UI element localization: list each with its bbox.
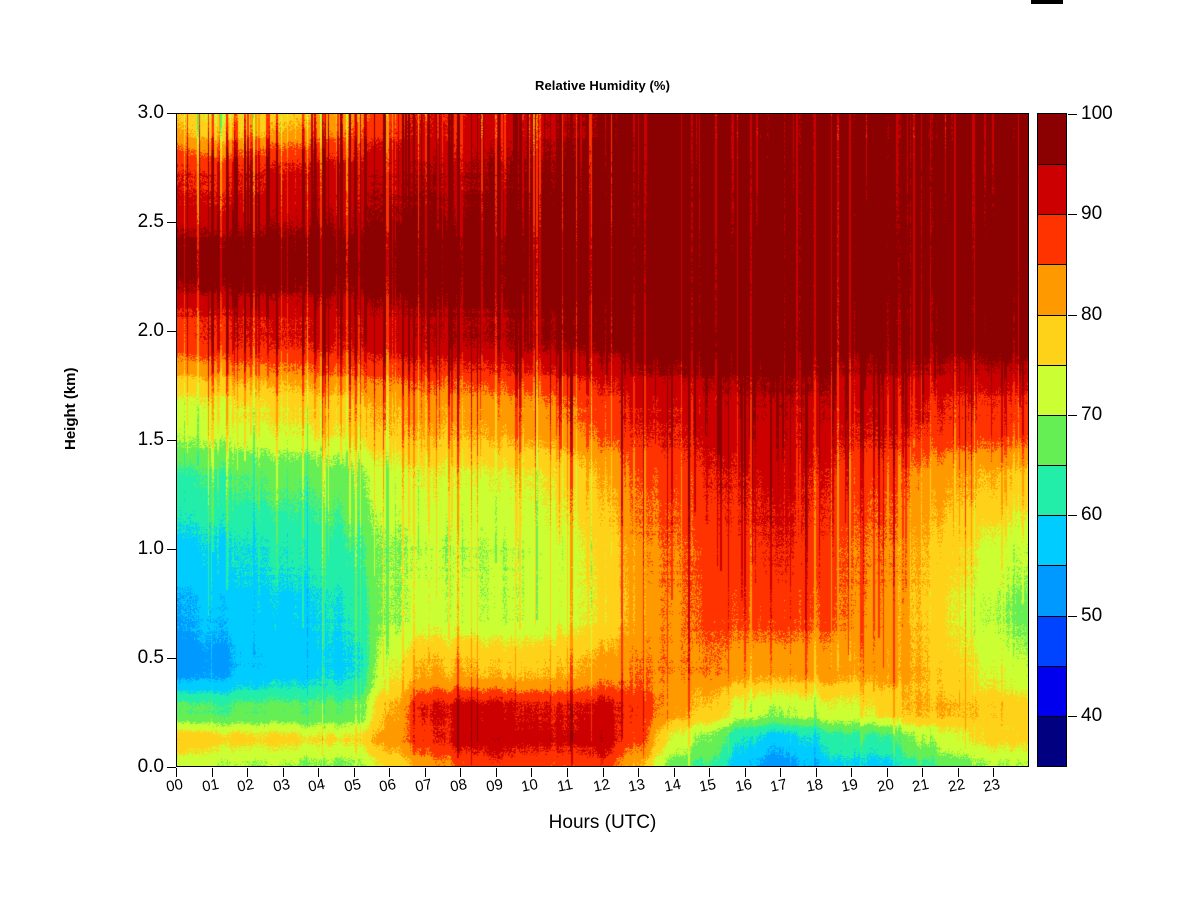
x-tick-label: 05 xyxy=(343,777,362,795)
colorbar-band-divider xyxy=(1038,214,1066,215)
y-axis-title: Height (km) xyxy=(62,368,79,451)
x-tick-label: 20 xyxy=(876,777,895,795)
x-tick-label: 13 xyxy=(627,777,646,795)
x-tick-label: 15 xyxy=(698,777,717,795)
colorbar-band xyxy=(1038,415,1066,465)
colorbar-band-divider xyxy=(1038,716,1066,717)
colorbar-band xyxy=(1038,565,1066,615)
colorbar-band xyxy=(1038,214,1066,264)
colorbar-band xyxy=(1038,264,1066,314)
colorbar-tick-label: 70 xyxy=(1081,405,1102,424)
colorbar-band-divider xyxy=(1038,164,1066,165)
colorbar-band xyxy=(1038,515,1066,565)
x-tick-label: 04 xyxy=(307,777,326,795)
colorbar-tick-mark xyxy=(1068,616,1077,617)
colorbar-band xyxy=(1038,666,1066,716)
colorbar-band xyxy=(1038,616,1066,666)
colorbar-band-divider xyxy=(1038,415,1066,416)
y-tick-mark xyxy=(167,222,176,223)
x-tick-label: 02 xyxy=(236,777,255,795)
x-tick-label: 11 xyxy=(556,777,574,795)
x-tick-label: 23 xyxy=(982,777,1001,795)
x-axis-title: Hours (UTC) xyxy=(176,812,1029,834)
x-tick-label: 18 xyxy=(805,777,824,795)
heatmap-plot-area[interactable] xyxy=(176,113,1029,767)
y-tick-mark xyxy=(167,767,176,768)
y-tick-label: 0.0 xyxy=(138,757,164,776)
y-tick-label: 3.0 xyxy=(138,103,164,122)
x-tick-label: 07 xyxy=(414,777,433,795)
y-axis: Height (km) 0.00.51.01.52.02.53.0 xyxy=(0,0,176,900)
colorbar-tick-mark xyxy=(1068,114,1077,115)
colorbar-tick-label: 80 xyxy=(1081,305,1102,324)
x-tick-label: 08 xyxy=(449,777,468,795)
colorbar-tick-label: 50 xyxy=(1081,606,1102,625)
x-tick-label: 12 xyxy=(592,777,611,795)
colorbar-band-divider xyxy=(1038,515,1066,516)
y-tick-label: 0.5 xyxy=(138,648,164,667)
y-tick-mark xyxy=(167,658,176,659)
x-tick-label: 14 xyxy=(663,777,682,795)
colorbar-band-divider xyxy=(1038,616,1066,617)
colorbar-tick-label: 100 xyxy=(1081,104,1113,123)
figure-canvas: Relative Humidity (%) Height (km) 0.00.5… xyxy=(0,0,1200,900)
x-tick-label: 10 xyxy=(520,777,539,795)
colorbar-tick-mark xyxy=(1068,415,1077,416)
y-tick-mark xyxy=(167,440,176,441)
colorbar-tick-mark xyxy=(1068,515,1077,516)
x-tick-label: 17 xyxy=(769,777,788,795)
colorbar-band-divider xyxy=(1038,264,1066,265)
x-tick-label: 03 xyxy=(272,777,291,795)
y-tick-mark xyxy=(167,549,176,550)
colorbar-band xyxy=(1038,315,1066,365)
colorbar-band-divider xyxy=(1038,365,1066,366)
colorbar-band xyxy=(1038,114,1066,164)
x-tick-label: 22 xyxy=(947,777,966,795)
colorbar-band xyxy=(1038,465,1066,515)
x-tick-label: 19 xyxy=(840,777,859,795)
x-tick-label: 00 xyxy=(165,777,184,795)
colorbar-tick-mark xyxy=(1068,315,1077,316)
page-title: Relative Humidity (%) xyxy=(176,78,1029,93)
x-tick-label: 06 xyxy=(378,777,397,795)
x-tick-label: 21 xyxy=(911,777,930,795)
colorbar-band-divider xyxy=(1038,666,1066,667)
colorbar-tick-mark xyxy=(1068,716,1077,717)
y-tick-mark xyxy=(167,113,176,114)
x-tick-label: 09 xyxy=(485,777,504,795)
colorbar-tick-label: 40 xyxy=(1081,706,1102,725)
colorbar-tick-label: 90 xyxy=(1081,204,1102,223)
y-tick-mark xyxy=(167,331,176,332)
colorbar[interactable] xyxy=(1037,113,1067,767)
colorbar-band-divider xyxy=(1038,465,1066,466)
x-tick-label: 16 xyxy=(734,777,753,795)
top-right-artifact-mark xyxy=(1031,0,1063,4)
y-tick-label: 1.5 xyxy=(138,430,164,449)
y-tick-label: 1.0 xyxy=(138,539,164,558)
colorbar-band-divider xyxy=(1038,565,1066,566)
y-tick-label: 2.0 xyxy=(138,321,164,340)
x-tick-label: 01 xyxy=(201,777,220,795)
colorbar-band-divider xyxy=(1038,315,1066,316)
colorbar-band xyxy=(1038,164,1066,214)
colorbar-band xyxy=(1038,716,1066,766)
colorbar-band xyxy=(1038,365,1066,415)
colorbar-tick-label: 60 xyxy=(1081,505,1102,524)
heatmap-image xyxy=(177,114,1028,766)
y-tick-label: 2.5 xyxy=(138,212,164,231)
colorbar-tick-mark xyxy=(1068,214,1077,215)
